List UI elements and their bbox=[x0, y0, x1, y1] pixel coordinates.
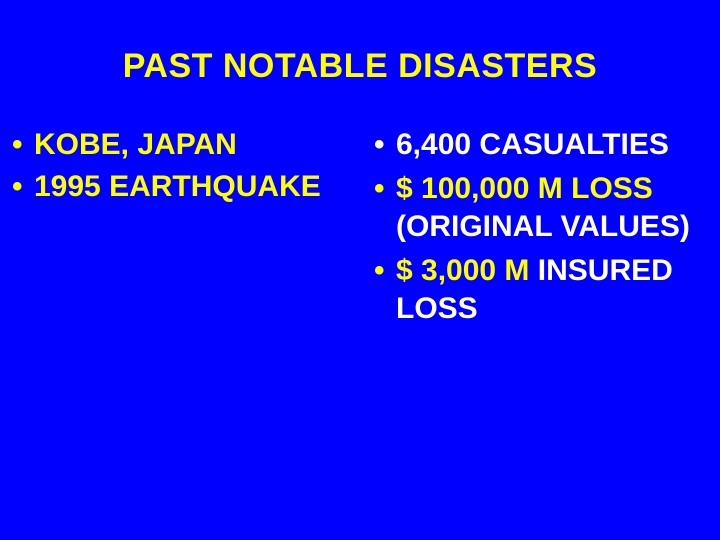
slide-title: PAST NOTABLE DISASTERS bbox=[0, 46, 720, 86]
bullet-list-item: •6,400 CASUALTIES bbox=[370, 126, 720, 164]
bullet-text-segment: KOBE, JAPAN bbox=[34, 128, 237, 161]
bullet-text-segment: 6,400 CASUALTIES bbox=[396, 128, 669, 161]
bullet-column-right: •6,400 CASUALTIES•$ 100,000 M LOSS (ORIG… bbox=[370, 126, 720, 334]
bullet-text: KOBE, JAPAN bbox=[34, 126, 360, 164]
bullet-point-icon: • bbox=[370, 170, 396, 208]
bullet-text-segment: (ORIGINAL VALUES) bbox=[396, 210, 690, 243]
bullet-list-item: •KOBE, JAPAN bbox=[8, 126, 360, 164]
bullet-text-segment: 1995 EARTHQUAKE bbox=[34, 170, 321, 203]
bullet-text: $ 100,000 M LOSS (ORIGINAL VALUES) bbox=[396, 170, 720, 246]
bullet-list-item: •$ 3,000 M INSURED LOSS bbox=[370, 252, 720, 328]
presentation-slide: PAST NOTABLE DISASTERS •KOBE, JAPAN•1995… bbox=[0, 0, 720, 540]
bullet-text: $ 3,000 M INSURED LOSS bbox=[396, 252, 720, 328]
bullet-text-segment: $ 3,000 M bbox=[396, 254, 538, 287]
bullet-text: 6,400 CASUALTIES bbox=[396, 126, 720, 164]
bullet-text: 1995 EARTHQUAKE bbox=[34, 168, 360, 206]
bullet-column-left: •KOBE, JAPAN•1995 EARTHQUAKE bbox=[8, 126, 360, 210]
bullet-point-icon: • bbox=[370, 252, 396, 290]
bullet-point-icon: • bbox=[8, 168, 34, 206]
bullet-list-item: •1995 EARTHQUAKE bbox=[8, 168, 360, 206]
bullet-point-icon: • bbox=[8, 126, 34, 164]
bullet-point-icon: • bbox=[370, 126, 396, 164]
bullet-list-item: •$ 100,000 M LOSS (ORIGINAL VALUES) bbox=[370, 170, 720, 246]
bullet-text-segment: $ 100,000 M LOSS bbox=[396, 172, 653, 205]
slide-body: •KOBE, JAPAN•1995 EARTHQUAKE •6,400 CASU… bbox=[0, 126, 720, 526]
